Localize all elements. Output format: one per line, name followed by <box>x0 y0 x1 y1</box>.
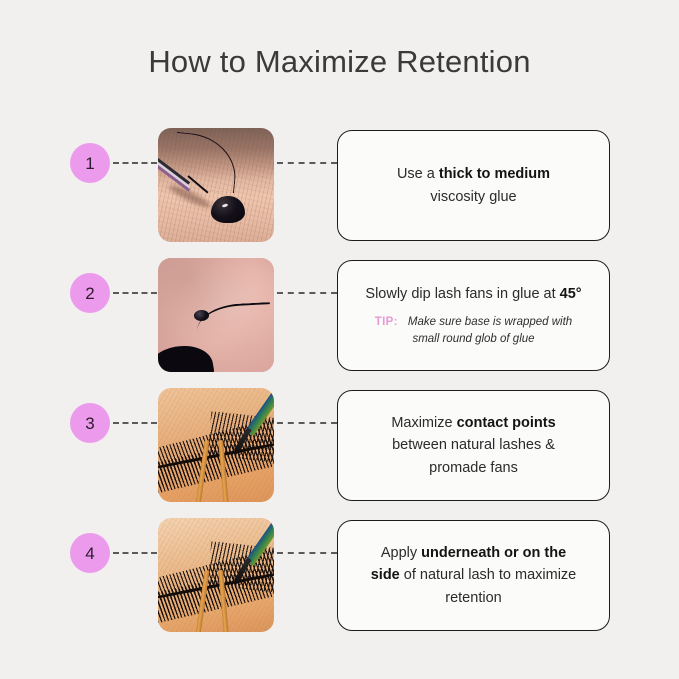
step-row-3: 3 Maximize contact pointsbetween natural… <box>0 385 679 505</box>
step-image-3 <box>158 388 274 502</box>
page-title: How to Maximize Retention <box>0 44 679 80</box>
connector-image-to-card-3 <box>277 422 337 424</box>
connector-image-to-card-4 <box>277 552 337 554</box>
tip-label: TIP: <box>375 316 405 328</box>
step-badge-4: 4 <box>70 533 110 573</box>
step-tip-2: TIP: Make sure base is wrapped with smal… <box>375 314 572 349</box>
glue-drop <box>211 196 245 223</box>
step-number-4: 4 <box>85 545 94 562</box>
step-text-1: Use a thick to mediumviscosity glue <box>397 163 550 208</box>
connector-badge-to-image-3 <box>113 422 157 424</box>
step-row-4: 4 Apply underneath or on theside of natu… <box>0 515 679 635</box>
step-row-1: 1 Use a thick to mediumviscosity glue <box>0 125 679 245</box>
step-number-2: 2 <box>85 285 94 302</box>
step-text-4: Apply underneath or on theside of natura… <box>371 542 577 609</box>
step-image-2 <box>158 258 274 372</box>
step-number-1: 1 <box>85 155 94 172</box>
connector-badge-to-image-1 <box>113 162 157 164</box>
tip-line-2: small round glob of glue <box>412 333 534 345</box>
step-badge-2: 2 <box>70 273 110 313</box>
step-badge-3: 3 <box>70 403 110 443</box>
step-card-4: Apply underneath or on theside of natura… <box>337 520 610 631</box>
step-number-3: 3 <box>85 415 94 432</box>
tip-line-1: Make sure base is wrapped with <box>408 316 572 328</box>
infographic-page: How to Maximize Retention 1 Use a thick … <box>0 0 679 679</box>
step-row-2: 2 Slowly dip lash fans in glue at 45° TI… <box>0 255 679 375</box>
step-card-3: Maximize contact pointsbetween natural l… <box>337 390 610 501</box>
step-text-2: Slowly dip lash fans in glue at 45° <box>365 283 581 305</box>
connector-badge-to-image-2 <box>113 292 157 294</box>
step-image-4 <box>158 518 274 632</box>
connector-badge-to-image-4 <box>113 552 157 554</box>
step-badge-1: 1 <box>70 143 110 183</box>
step-image-1 <box>158 128 274 242</box>
step-card-1: Use a thick to mediumviscosity glue <box>337 130 610 241</box>
step-text-3: Maximize contact pointsbetween natural l… <box>391 412 555 479</box>
connector-image-to-card-2 <box>277 292 337 294</box>
connector-image-to-card-1 <box>277 162 337 164</box>
step-card-2: Slowly dip lash fans in glue at 45° TIP:… <box>337 260 610 371</box>
